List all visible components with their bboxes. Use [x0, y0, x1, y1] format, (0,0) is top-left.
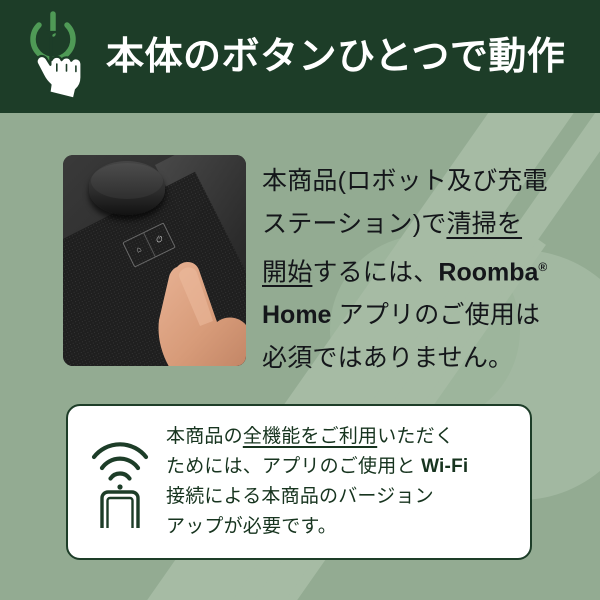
note-text-3: 接続による本商品のバージョン: [166, 486, 434, 507]
registered-mark: ®: [538, 260, 547, 274]
power-hand-icon: [16, 9, 102, 104]
main-copy-line-3: 開始するには、Roomba®: [262, 246, 587, 294]
note-text-1c: いただく: [377, 426, 454, 447]
main-copy-line-1: 本商品(ロボット及び充電: [262, 160, 587, 203]
note-line-1: 本商品の全機能をご利用いただく: [166, 422, 516, 452]
phone-wifi-icon: [68, 436, 166, 528]
main-copy-text-4b: アプリのご使用は: [331, 301, 540, 329]
note-line-3: 接続による本商品のバージョン: [166, 482, 516, 512]
main-copy-text-3b: するには、: [312, 258, 438, 286]
photo-finger: [147, 255, 246, 366]
note-text-1a: 本商品の: [166, 426, 243, 447]
note-text-4: アップが必要です。: [166, 516, 337, 537]
wifi-label: Wi-Fi: [421, 456, 468, 477]
main-copy-line-4: Home アプリのご使用は: [262, 294, 587, 337]
note-text-2a: ためには、アプリのご使用と: [166, 456, 421, 477]
main-copy-block: 本商品(ロボット及び充電 ステーション)で清掃を 開始するには、Roomba® …: [262, 160, 587, 380]
page-title: 本体のボタンひとつで動作: [106, 38, 565, 76]
roomba-button-press-photo: ⌂ ⏻: [63, 155, 246, 366]
app-name: Home: [262, 301, 331, 329]
note-underlined-1b: 全機能をご利用: [243, 426, 377, 447]
photo-lidar-knob: [89, 161, 165, 215]
note-card: 本商品の全機能をご利用いただく ためには、アプリのご使用と Wi-Fi 接続によ…: [66, 404, 532, 560]
note-line-4: アップが必要です。: [166, 512, 516, 542]
main-copy-underlined-3a: 開始: [262, 258, 312, 286]
main-copy-text-1: 本商品(ロボット及び充電: [262, 167, 548, 195]
note-line-2: ためには、アプリのご使用と Wi-Fi: [166, 452, 516, 482]
home-icon: ⌂: [135, 245, 143, 254]
main-copy-text-5: 必須ではありません。: [262, 344, 513, 372]
main-copy-underlined-2b: 清掃を: [446, 210, 522, 238]
promo-banner: 本体のボタンひとつで動作 ⌂ ⏻: [0, 0, 600, 600]
main-copy-text-2a: ステーション)で: [262, 210, 446, 238]
header-bar: 本体のボタンひとつで動作: [0, 0, 600, 113]
main-copy-line-2: ステーション)で清掃を: [262, 203, 587, 246]
brand-name: Roomba: [438, 258, 538, 286]
power-icon: ⏻: [155, 235, 164, 245]
note-card-text: 本商品の全機能をご利用いただく ためには、アプリのご使用と Wi-Fi 接続によ…: [166, 422, 530, 542]
main-copy-line-5: 必須ではありません。: [262, 337, 587, 380]
